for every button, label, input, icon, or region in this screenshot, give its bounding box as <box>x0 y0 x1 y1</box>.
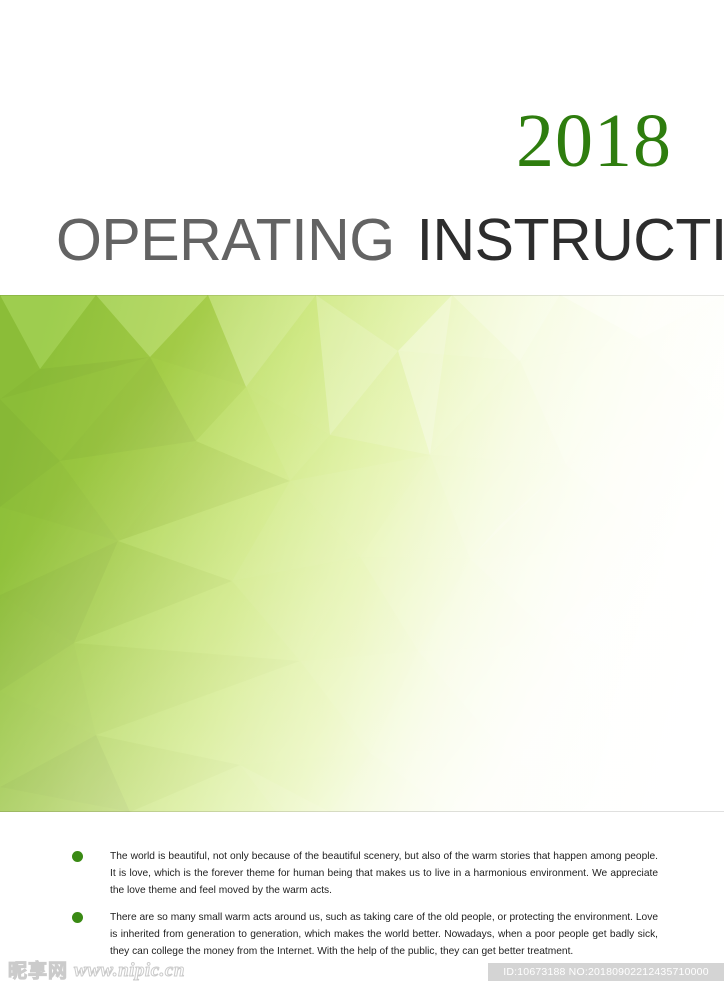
hero-banner <box>0 295 724 812</box>
bullet-dot-icon <box>72 851 83 862</box>
year-heading: 2018 <box>0 103 672 179</box>
id-badge: ID:10673188 NO:20180902212435710000 <box>488 963 724 981</box>
hero-top-divider <box>0 295 724 296</box>
title-word-operating: OPERATING <box>56 207 395 273</box>
page-title: OPERATINGINSTRUCTION <box>56 209 712 271</box>
low-poly-graphic <box>0 295 724 812</box>
paragraph-item: There are so many small warm acts around… <box>72 909 658 960</box>
hero-bottom-divider <box>0 811 724 812</box>
watermark-logo-icon: 昵享网 <box>8 959 68 983</box>
title-word-instruction: INSTRUCTION <box>417 207 724 273</box>
watermark-url-text: www.nipic.cn <box>74 959 185 983</box>
paragraph-text: The world is beautiful, not only because… <box>110 851 658 896</box>
paragraph-item: The world is beautiful, not only because… <box>72 848 658 899</box>
id-badge-text: ID:10673188 NO:20180902212435710000 <box>503 966 709 978</box>
poster-page: 2018 OPERATINGINSTRUCTION <box>0 0 724 993</box>
paragraph-text: There are so many small warm acts around… <box>110 912 658 957</box>
bullet-dot-icon <box>72 912 83 923</box>
watermark: 昵享网 www.nipic.cn <box>8 959 185 983</box>
body-copy: The world is beautiful, not only because… <box>72 848 658 961</box>
